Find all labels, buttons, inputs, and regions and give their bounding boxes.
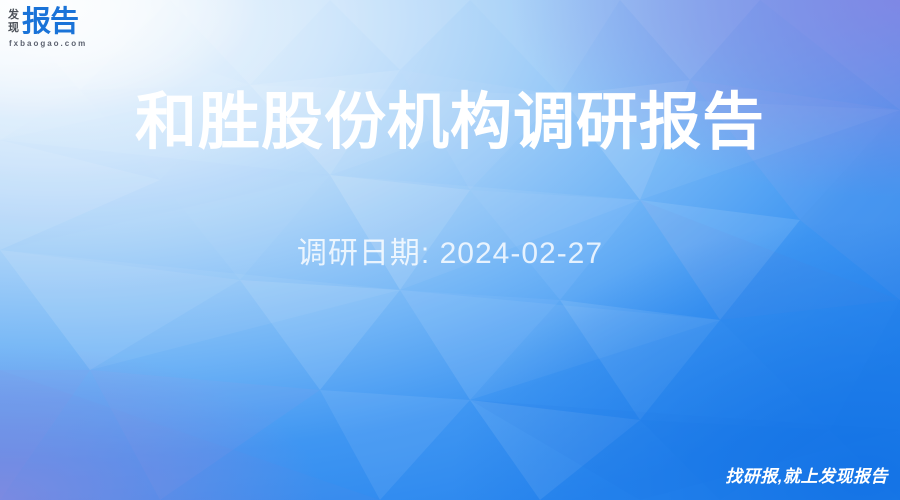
brand-logo-wordmark: 报告: [22, 7, 78, 37]
page-title: 和胜股份机构调研报告: [0, 86, 900, 160]
brand-logo-mark-line1: 发: [8, 9, 19, 22]
brand-logo-row: 发 现 报告: [8, 6, 128, 38]
survey-date-subtitle: 调研日期: 2024-02-27: [0, 233, 900, 275]
footer-slogan: 找研报,就上发现报告: [725, 466, 888, 488]
brand-logo-mark-line2: 现: [8, 22, 19, 35]
brand-logo-mark: 发 现: [8, 9, 19, 35]
report-cover: 发 现 报告 fxbaogao.com 和胜股份机构调研报告 调研日期: 202…: [0, 0, 900, 500]
brand-logo[interactable]: 发 现 报告 fxbaogao.com: [8, 6, 128, 48]
brand-logo-url: fxbaogao.com: [9, 39, 128, 48]
